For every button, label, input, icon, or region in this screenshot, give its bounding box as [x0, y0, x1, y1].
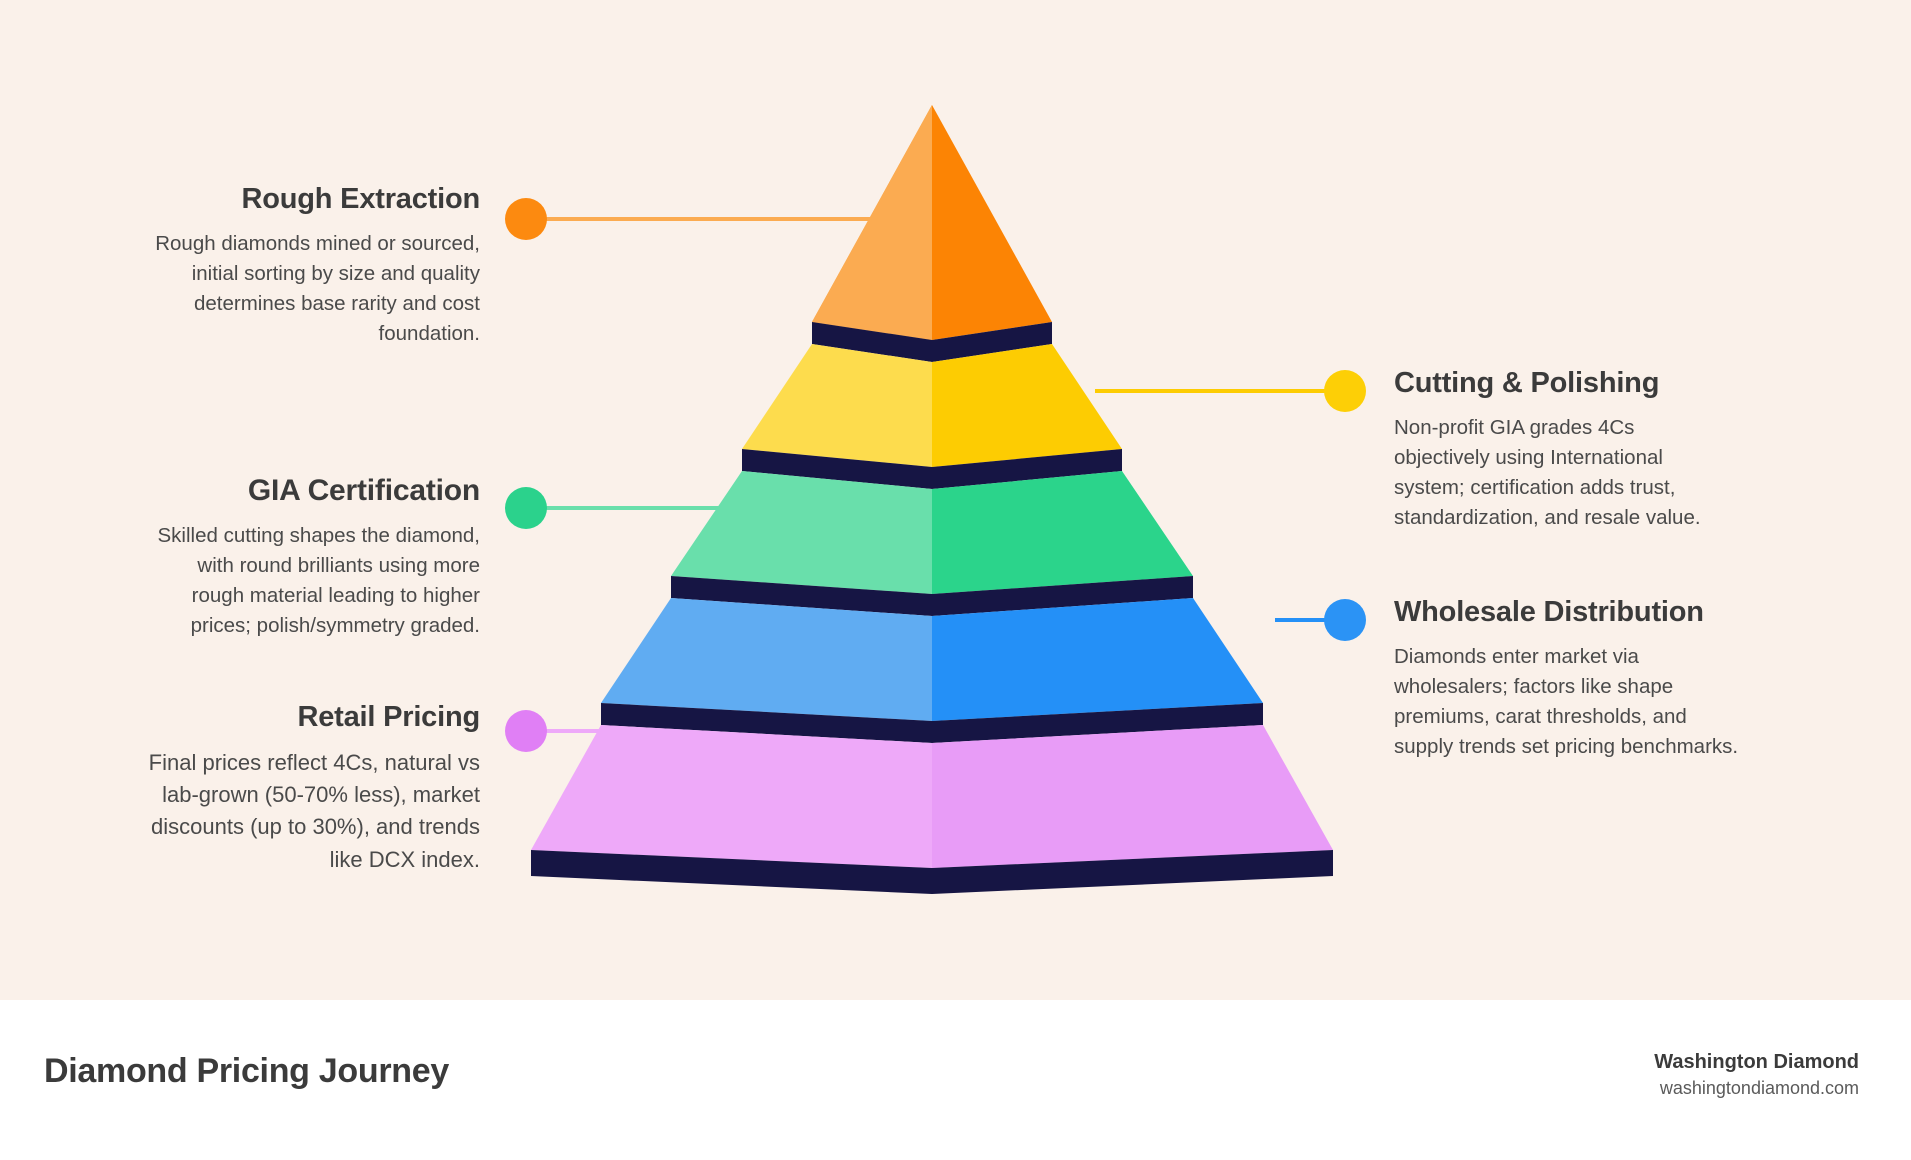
- canvas-area: Rough Extraction Rough diamonds mined or…: [0, 0, 1911, 1000]
- callout-rough-extraction[interactable]: Rough Extraction Rough diamonds mined or…: [150, 182, 480, 349]
- tier-4-right-main: [932, 598, 1263, 721]
- tier-5-right-main: [932, 725, 1333, 868]
- callout-wholesale-distribution[interactable]: Wholesale Distribution Diamonds enter ma…: [1394, 595, 1744, 762]
- tier-3-right-main: [932, 471, 1193, 594]
- callout-title: Retail Pricing: [130, 700, 480, 735]
- connector-dot-retail[interactable]: [505, 710, 547, 752]
- callout-title: Cutting & Polishing: [1394, 366, 1734, 401]
- pyramid-tier-5[interactable]: [531, 725, 1333, 894]
- callout-description: Diamonds enter market via wholesalers; f…: [1394, 642, 1744, 763]
- tier-1-left-main: [812, 105, 932, 340]
- tier-3-left-main: [671, 471, 932, 594]
- callout-description: Non-profit GIA grades 4Cs objectively us…: [1394, 413, 1734, 534]
- pyramid-tier-2[interactable]: [742, 344, 1122, 489]
- infographic-root: Rough Extraction Rough diamonds mined or…: [0, 0, 1911, 1160]
- callout-retail-pricing[interactable]: Retail Pricing Final prices reflect 4Cs,…: [130, 700, 480, 876]
- pyramid-tier-4[interactable]: [601, 598, 1263, 743]
- brand-name: Washington Diamond: [1654, 1048, 1859, 1076]
- tier-4-left-main: [601, 598, 932, 721]
- footer-bar: Diamond Pricing Journey Washington Diamo…: [0, 1000, 1911, 1160]
- page-title: Diamond Pricing Journey: [44, 1052, 449, 1091]
- callout-gia-certification[interactable]: GIA Certification Skilled cutting shapes…: [140, 473, 480, 642]
- connector-dot-cutting[interactable]: [1324, 370, 1366, 412]
- callout-description: Final prices reflect 4Cs, natural vs lab…: [130, 747, 480, 876]
- callout-title: GIA Certification: [140, 473, 480, 509]
- callout-title: Rough Extraction: [150, 182, 480, 217]
- callout-description: Rough diamonds mined or sourced, initial…: [150, 229, 480, 350]
- callout-description: Skilled cutting shapes the diamond, with…: [140, 521, 480, 642]
- tier-2-right-main: [932, 344, 1122, 467]
- brand-block: Washington Diamond washingtondiamond.com: [1654, 1048, 1859, 1101]
- callout-title: Wholesale Distribution: [1394, 595, 1744, 630]
- tier-5-left-main: [531, 725, 932, 868]
- pyramid-tier-1[interactable]: [812, 105, 1052, 362]
- callout-cutting-polishing[interactable]: Cutting & Polishing Non-profit GIA grade…: [1394, 366, 1734, 533]
- pyramid-tier-3[interactable]: [671, 471, 1193, 616]
- tier-2-left-main: [742, 344, 932, 467]
- tier-1-right-main: [932, 105, 1052, 340]
- connector-dot-gia[interactable]: [505, 487, 547, 529]
- connector-dot-rough[interactable]: [505, 198, 547, 240]
- connector-dot-wholesale[interactable]: [1324, 599, 1366, 641]
- brand-url: washingtondiamond.com: [1654, 1076, 1859, 1101]
